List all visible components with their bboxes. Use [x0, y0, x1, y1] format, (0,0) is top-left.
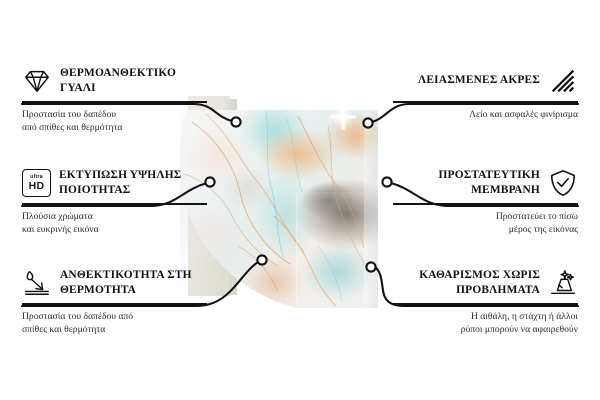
feature-description: Προστασία του δαπέδου από σπίθες και θερ… — [22, 108, 207, 134]
feature-title: ΛΕΙΑΣΜΕΝΕΣ ΑΚΡΕΣ — [418, 73, 540, 88]
feature-title: ΘΕΡΜΟΑΝΘΕΚΤΙΚΟ ΓΥΑΛΙ — [60, 66, 207, 97]
sponge-sparkle-icon — [548, 268, 578, 298]
feature-title: ΚΑΘΑΡΙΣΜΟΣ ΧΩΡΙΣ ΠΡΟΒΛΗΜΑΤΑ — [393, 268, 540, 299]
feature-easy-cleaning[interactable]: ΚΑΘΑΡΙΣΜΟΣ ΧΩΡΙΣ ΠΡΟΒΛΗΜΑΤΑ Η αιθάλη, η … — [393, 266, 578, 336]
feature-polished-edges[interactable]: ΛΕΙΑΣΜΕΝΕΣ ΑΚΡΕΣ Λείο και ασφαλές φινίρι… — [393, 64, 578, 121]
feature-description: Η αιθάλη, η στάχτη ή άλλοι ρύποι μπορούν… — [393, 310, 578, 336]
feature-rule — [22, 203, 207, 205]
product-scene — [178, 96, 410, 316]
gold-vein-overlay — [178, 96, 378, 308]
feature-rule — [393, 303, 578, 305]
feature-description: Προστασία του δαπέδου από σπίθες και θερ… — [22, 310, 207, 336]
shield-check-icon — [548, 168, 578, 198]
diamond-icon — [22, 66, 52, 96]
feature-heat-durability[interactable]: ΑΝΘΕΚΤΙΚΟΤΗΤΑ ΣΤΗ ΘΕΡΜΟΤΗΤΑ Προστασία το… — [22, 266, 207, 336]
feature-description: Προστατεύει το πίσω μέρος της εικόνας — [393, 210, 578, 236]
feature-title: ΠΡΟΣΤΑΤΕΥΤΙΚΗ ΜΕΜΒΡΑΝΗ — [393, 168, 540, 199]
feature-rule — [22, 303, 207, 305]
flame-deflect-icon — [22, 268, 52, 298]
glass-splashback-panel — [178, 96, 378, 308]
feature-rule — [393, 203, 578, 205]
ultra-hd-icon-main: HD — [29, 181, 45, 192]
ultra-hd-icon: ultra HD — [22, 169, 51, 197]
feature-description: Λείο και ασφαλές φινίρισμα — [393, 108, 578, 121]
feature-heat-resistant-glass[interactable]: ΘΕΡΜΟΑΝΘΕΚΤΙΚΟ ΓΥΑΛΙ Προστασία του δαπέδ… — [22, 64, 207, 134]
infographic-canvas: ΘΕΡΜΟΑΝΘΕΚΤΙΚΟ ΓΥΑΛΙ Προστασία του δαπέδ… — [0, 0, 600, 400]
feature-title: ΕΚΤΥΠΩΣΗ ΥΨΗΛΗΣ ΠΟΙΟΤΗΤΑΣ — [59, 168, 207, 199]
feature-rule — [393, 101, 578, 103]
glass-right-edge — [364, 110, 378, 308]
hatched-triangle-icon — [548, 66, 578, 96]
feature-rule — [22, 101, 207, 103]
feature-description: Πλούσια χρώματα και ευκρινής εικόνα — [22, 210, 207, 236]
feature-protective-membrane[interactable]: ΠΡΟΣΤΑΤΕΥΤΙΚΗ ΜΕΜΒΡΑΝΗ Προστατεύει το πί… — [393, 166, 578, 236]
feature-title: ΑΝΘΕΚΤΙΚΟΤΗΤΑ ΣΤΗ ΘΕΡΜΟΤΗΤΑ — [60, 268, 207, 299]
feature-high-quality-print[interactable]: ultra HD ΕΚΤΥΠΩΣΗ ΥΨΗΛΗΣ ΠΟΙΟΤΗΤΑΣ Πλούσ… — [22, 166, 207, 236]
